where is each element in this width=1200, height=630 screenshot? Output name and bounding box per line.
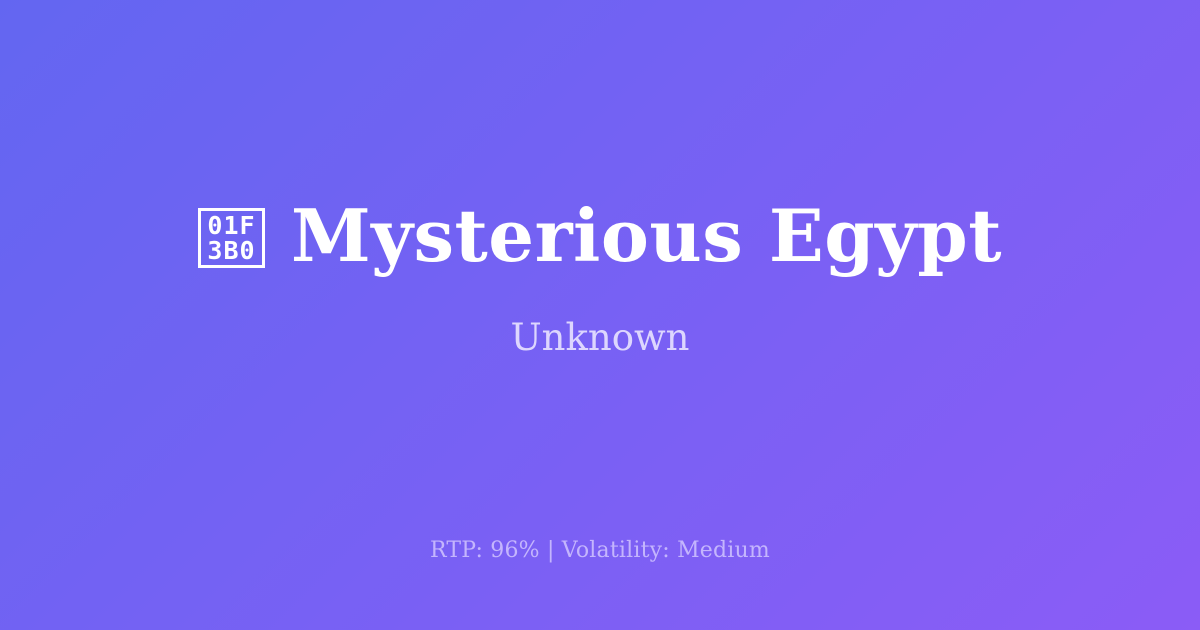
page-title: Mysterious Egypt <box>291 199 1002 272</box>
tofu-hex-bottom: 3B0 <box>207 238 255 263</box>
hero-block: 01F 3B0 Mysterious Egypt Unknown <box>0 0 1200 630</box>
provider-label: Unknown <box>510 318 689 359</box>
slot-machine-icon: 01F 3B0 <box>198 208 265 268</box>
game-meta-footer: RTP: 96% | Volatility: Medium <box>0 538 1200 564</box>
og-share-card: 01F 3B0 Mysterious Egypt Unknown RTP: 96… <box>0 0 1200 630</box>
title-row: 01F 3B0 Mysterious Egypt <box>198 199 1002 272</box>
tofu-hex-top: 01F <box>207 213 255 238</box>
